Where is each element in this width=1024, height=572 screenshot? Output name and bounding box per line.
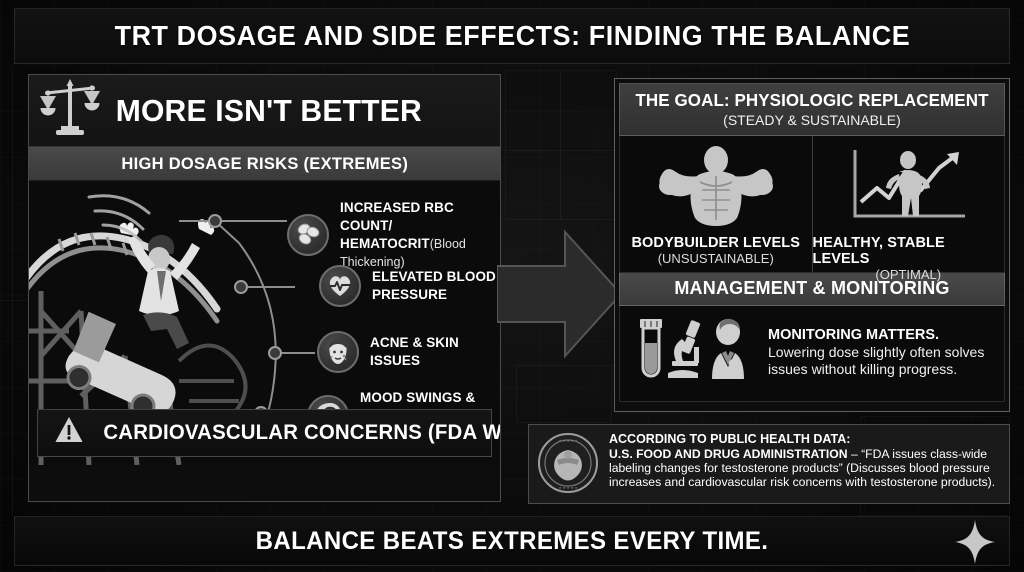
svg-text:★ ★ ★ ★ ★: ★ ★ ★ ★ ★ [559,439,578,443]
cardiovascular-alert-label: CARDIOVASCULAR CONCERNS (FDA WARNED) [103,421,500,445]
risk-label-acne: ACNE & SKIN ISSUES [370,334,500,370]
risk-item-rbc[interactable]: INCREASED RBC COUNT/ HEMATOCRIT(Blood Th… [287,199,500,271]
cardiovascular-alert[interactable]: CARDIOVASCULAR CONCERNS (FDA WARNED) [37,409,492,457]
bodybuilder-flexing-icon [656,146,776,231]
bodybuilder-caption: BODYBUILDER LEVELS [631,235,800,251]
citation-box: ★ ★ ★ ★ ★ ★ ★ ★ ★ ★ ACCORDING TO PUBLIC … [528,424,1010,504]
footer-tagline: BALANCE BEATS EXTREMES EVERY TIME. [256,527,769,556]
bg-blueprint-rect-1 [505,70,617,220]
heart-pulse-icon [319,265,361,307]
risk-label-rbc: INCREASED RBC COUNT/ HEMATOCRIT(Blood Th… [340,199,500,271]
blood-cells-icon [287,214,329,256]
monitoring-body-line2: issues without killing progress. [768,361,984,378]
risk-title2-rbc: HEMATOCRIT [340,236,430,251]
healthy-caption: HEALTHY, STABLE LEVELS [813,235,1005,267]
column-bodybuilder-levels[interactable]: BODYBUILDER LEVELS (UNSUSTAINABLE) [620,136,812,272]
risk-title-mood: MOOD SWINGS & [360,390,475,405]
management-monitoring-band: MANAGEMENT & MONITORING [619,273,1005,306]
bg-blueprint-line-1 [505,150,623,151]
bodybuilder-sub: (UNSUSTAINABLE) [658,251,774,266]
risk-title-rbc: INCREASED RBC COUNT/ [340,200,454,233]
citation-source: U.S. FOOD AND DRUG ADMINISTRATION [609,447,848,461]
healthy-figure-trend-chart-icon [843,146,973,231]
management-monitoring-label: MANAGEMENT & MONITORING [674,278,949,298]
goal-header: THE GOAL: PHYSIOLOGIC REPLACEMENT (STEAD… [619,83,1005,136]
risk-title-acne: ACNE & SKIN ISSUES [370,335,459,368]
risk-title-bp: ELEVATED BLOOD [372,269,496,284]
right-panel-the-goal: THE GOAL: PHYSIOLOGIC REPLACEMENT (STEAD… [614,78,1010,412]
left-panel-high-dosage-risks: MORE ISN'T BETTER HIGH DOSAGE RISKS (EXT… [28,74,501,502]
bg-blueprint-line-4 [12,66,13,516]
monitoring-icons-group [632,317,756,388]
monitoring-row: MONITORING MATTERS. Lowering dose slight… [619,306,1005,402]
high-dosage-risks-label: HIGH DOSAGE RISKS (EXTREMES) [121,154,408,174]
risk-item-blood-pressure[interactable]: ELEVATED BLOOD PRESSURE [319,265,496,307]
monitoring-title: MONITORING MATTERS. [768,327,984,344]
right-arrow-icon [497,228,622,360]
citation-text: ACCORDING TO PUBLIC HEALTH DATA: U.S. FO… [609,432,1000,489]
column-healthy-stable-levels[interactable]: HEALTHY, STABLE LEVELS (OPTIMAL) [812,136,1005,272]
sparkle-icon [954,520,996,569]
acne-face-icon [317,331,359,373]
footer-bar: BALANCE BEATS EXTREMES EVERY TIME. [14,516,1010,566]
citation-eyebrow: ACCORDING TO PUBLIC HEALTH DATA: [609,432,1000,447]
bg-blueprint-line-3 [0,300,28,301]
svg-text:★ ★ ★ ★ ★: ★ ★ ★ ★ ★ [559,486,578,490]
comparison-row: BODYBUILDER LEVELS (UNSUSTAINABLE) [619,136,1005,273]
goal-subtitle: (STEADY & SUSTAINABLE) [620,112,1004,128]
risk-item-acne[interactable]: ACNE & SKIN ISSUES [317,331,500,373]
bg-blueprint-rect-2 [516,365,612,423]
scales-balance-icon [39,76,101,145]
left-panel-heading: MORE ISN'T BETTER [116,93,422,129]
citation-body: U.S. FOOD AND DRUG ADMINISTRATION – “FDA… [609,447,1000,490]
risk-title2-bp: PRESSURE [372,287,447,302]
goal-title: THE GOAL: PHYSIOLOGIC REPLACEMENT [626,90,998,111]
monitoring-body-line1: Lowering dose slightly often solves [768,344,984,361]
bg-blueprint-line-2 [560,70,561,220]
warning-triangle-icon [54,416,83,450]
left-panel-header: MORE ISN'T BETTER [29,75,500,147]
title-bar: TRT DOSAGE AND SIDE EFFECTS: FINDING THE… [14,8,1010,64]
us-government-seal-icon: ★ ★ ★ ★ ★ ★ ★ ★ ★ ★ [537,432,599,499]
risk-label-blood-pressure: ELEVATED BLOOD PRESSURE [372,268,496,304]
infographic-canvas: TRT DOSAGE AND SIDE EFFECTS: FINDING THE… [0,0,1024,572]
monitoring-text: MONITORING MATTERS. Lowering dose slight… [768,327,984,378]
page-title: TRT DOSAGE AND SIDE EFFECTS: FINDING THE… [114,20,910,52]
high-dosage-risks-band: HIGH DOSAGE RISKS (EXTREMES) [29,147,500,181]
left-panel-body: INCREASED RBC COUNT/ HEMATOCRIT(Blood Th… [29,181,500,465]
